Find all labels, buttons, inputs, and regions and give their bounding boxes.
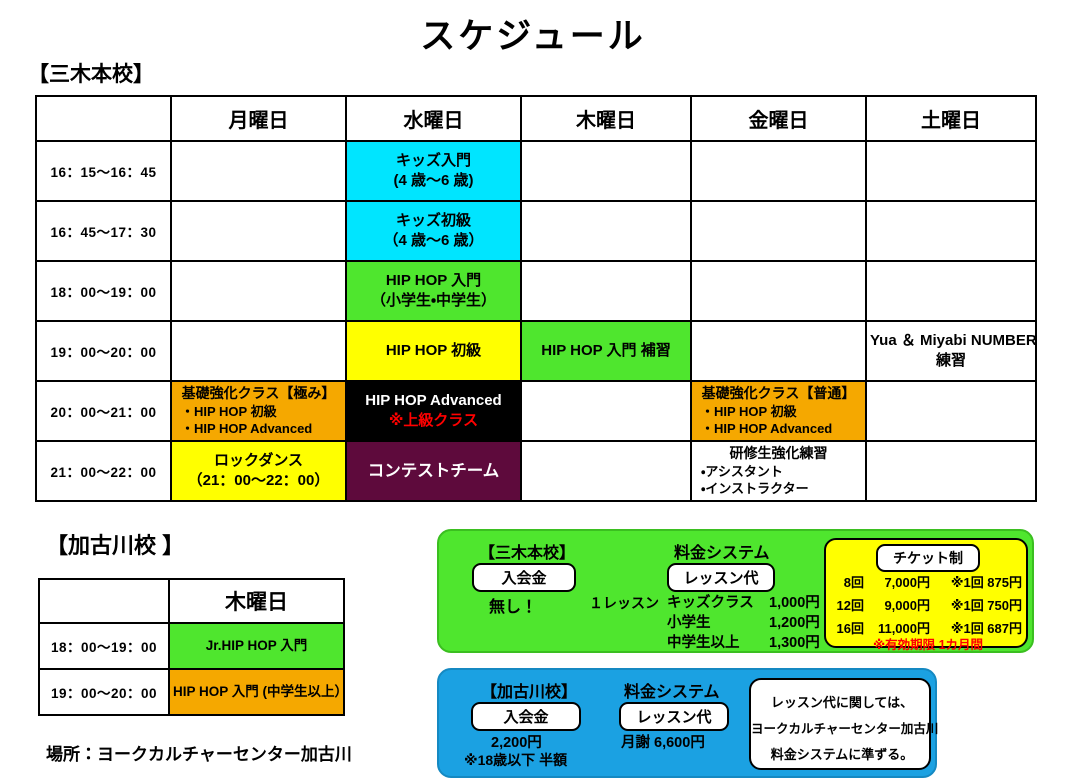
schedule-cell-sat — [866, 381, 1036, 441]
schedule-cell-wed: キッズ入門(4 歳〜6 歳) — [346, 141, 521, 201]
schedule-cell-sat — [866, 201, 1036, 261]
note-line: ヨークカルチャーセンター加古川 — [751, 718, 933, 737]
miki-fee-row-value: 1,300円 — [769, 631, 820, 652]
column-header-monday: 月曜日 — [171, 96, 346, 141]
miki-fee-system-label: 料金システム — [674, 539, 770, 563]
schedule-cell-sat: Yua ＆ Miyabi NUMBER練習 — [866, 321, 1036, 381]
schedule-cell-thu: Jr.HIP HOP 入門 — [169, 623, 344, 669]
class-label: ・HIP HOP Advanced — [695, 420, 862, 438]
schedule-cell-thu — [521, 261, 691, 321]
schedule-cell-mon: 基礎強化クラス【極み】・HIP HOP 初級・HIP HOP Advanced — [171, 381, 346, 441]
class-label: HIP HOP 入門 (中学生以上） — [173, 683, 340, 701]
ticket-per-lesson: ※1回 875円 — [934, 572, 1022, 591]
schedule-cell-thu — [521, 441, 691, 501]
class-label: ・インストラクター — [695, 480, 862, 498]
schedule-cell-mon — [171, 141, 346, 201]
class-label: (4 歳〜6 歳) — [350, 171, 517, 191]
class-label: HIP HOP 初級 — [350, 341, 517, 361]
kakogawa-lesson-fee-value: 月謝 6,600円 — [621, 731, 705, 752]
time-slot-label: 20：00〜21：00 — [36, 381, 171, 441]
time-slot-label: 16：15〜16：45 — [36, 141, 171, 201]
class-label: （4 歳〜6 歳） — [350, 231, 517, 251]
schedule-cell-wed: キッズ初級（4 歳〜6 歳） — [346, 201, 521, 261]
schedule-row: 19：00〜20：00HIP HOP 初級HIP HOP 入門 補習Yua ＆ … — [36, 321, 1036, 381]
class-label: Yua ＆ Miyabi NUMBER — [870, 331, 1032, 351]
class-label: ロックダンス — [175, 451, 342, 471]
kakogawa-fee-note-box: レッスン代に関しては、 ヨークカルチャーセンター加古川 料金システムに準ずる。 — [749, 678, 931, 770]
schedule-cell-wed: コンテストチーム — [346, 441, 521, 501]
ticket-plan-label: チケット制 — [876, 544, 980, 572]
class-label: ・アシスタント — [695, 463, 862, 481]
column-header-time — [39, 579, 169, 623]
miki-lesson-fee-label: レッスン代 — [667, 563, 775, 592]
schedule-cell-fri — [691, 261, 866, 321]
column-header-thursday: 木曜日 — [521, 96, 691, 141]
column-header-thursday: 木曜日 — [169, 579, 344, 623]
kakogawa-fee-school-label: 【加古川校】 — [481, 678, 577, 702]
time-slot-label: 19：00〜20：00 — [36, 321, 171, 381]
note-line: レッスン代に関しては、 — [751, 692, 933, 711]
schedule-cell-thu: HIP HOP 入門 (中学生以上） — [169, 669, 344, 715]
schedule-cell-fri — [691, 321, 866, 381]
class-label: 基礎強化クラス【極み】 — [175, 384, 342, 403]
kakogawa-schedule-table: 木曜日 18：00〜19：00Jr.HIP HOP 入門19：00〜20：00H… — [38, 578, 345, 716]
ticket-expiry-note: ※有効期限 1カ月間 — [826, 634, 1030, 653]
kakogawa-section-heading: 【加古川校 】 — [46, 528, 184, 560]
class-label: 研修生強化練習 — [695, 444, 862, 463]
page-title: スケジュール — [0, 8, 1066, 59]
schedule-row: 18：00〜19：00Jr.HIP HOP 入門 — [39, 623, 344, 669]
schedule-cell-mon — [171, 261, 346, 321]
schedule-cell-wed: HIP HOP Advanced※上級クラス — [346, 381, 521, 441]
miki-fee-panel: 【三木本校】 料金システム 入会金 無し！ １レッスン レッスン代 キッズクラス… — [437, 529, 1034, 653]
class-label: HIP HOP Advanced — [350, 391, 517, 411]
class-label: キッズ入門 — [350, 151, 517, 171]
schedule-cell-fri: 研修生強化練習・アシスタント・インストラクター — [691, 441, 866, 501]
class-label: キッズ初級 — [350, 211, 517, 231]
class-label: 基礎強化クラス【普通】 — [695, 384, 862, 403]
ticket-amount: 7,000円 — [868, 572, 930, 591]
time-slot-label: 18：00〜19：00 — [39, 623, 169, 669]
ticket-count: 8回 — [830, 572, 864, 591]
schedule-cell-fri — [691, 141, 866, 201]
miki-fee-row-label: 小学生 — [667, 611, 711, 632]
schedule-row: 16：15〜16：45キッズ入門(4 歳〜6 歳) — [36, 141, 1036, 201]
note-line: 料金システムに準ずる。 — [751, 744, 933, 763]
kakogawa-fee-panel: 【加古川校】 料金システム 入会金 2,200円 ※18歳以下 半額 レッスン代… — [437, 668, 937, 778]
kakogawa-lesson-fee-label: レッスン代 — [619, 702, 729, 731]
class-label: Jr.HIP HOP 入門 — [173, 637, 340, 655]
time-slot-label: 21：00〜22：00 — [36, 441, 171, 501]
schedule-cell-thu — [521, 381, 691, 441]
schedule-row: 19：00〜20：00HIP HOP 入門 (中学生以上） — [39, 669, 344, 715]
schedule-cell-thu — [521, 141, 691, 201]
ticket-amount: 9,000円 — [868, 595, 930, 614]
kakogawa-admission-note: ※18歳以下 半額 — [464, 750, 567, 770]
class-label: （小学生・中学生） — [350, 291, 517, 311]
time-slot-label: 19：00〜20：00 — [39, 669, 169, 715]
miki-one-lesson-label: １レッスン — [589, 593, 659, 613]
schedule-row: 16：45〜17：30キッズ初級（4 歳〜6 歳） — [36, 201, 1036, 261]
schedule-row: 21：00〜22：00ロックダンス（21：00〜22：00）コンテストチーム研修… — [36, 441, 1036, 501]
schedule-row: 20：00〜21：00基礎強化クラス【極み】・HIP HOP 初級・HIP HO… — [36, 381, 1036, 441]
class-label: コンテストチーム — [350, 460, 517, 482]
ticket-count: 12回 — [830, 595, 864, 614]
schedule-cell-mon: ロックダンス（21：00〜22：00） — [171, 441, 346, 501]
column-header-saturday: 土曜日 — [866, 96, 1036, 141]
class-label: ・HIP HOP Advanced — [175, 420, 342, 438]
column-header-time — [36, 96, 171, 141]
schedule-cell-wed: HIP HOP 初級 — [346, 321, 521, 381]
kakogawa-admission-label: 入会金 — [471, 702, 581, 731]
schedule-cell-sat — [866, 261, 1036, 321]
miki-fee-row-label: キッズクラス — [667, 591, 754, 612]
miki-admission-value: 無し！ — [489, 593, 537, 617]
class-label: ・HIP HOP 初級 — [175, 403, 342, 421]
column-header-wednesday: 水曜日 — [346, 96, 521, 141]
class-label: HIP HOP 入門 — [350, 271, 517, 291]
schedule-cell-mon — [171, 321, 346, 381]
kakogawa-place-note: 場所：ヨークカルチャーセンター加古川 — [46, 740, 352, 765]
kakogawa-admission-value: 2,200円 — [491, 731, 542, 752]
schedule-cell-thu: HIP HOP 入門 補習 — [521, 321, 691, 381]
schedule-cell-mon — [171, 201, 346, 261]
miki-admission-label: 入会金 — [472, 563, 576, 592]
miki-fee-row-value: 1,000円 — [769, 591, 820, 612]
class-label: ・HIP HOP 初級 — [695, 403, 862, 421]
ticket-plan-box: チケット制 8回 7,000円 ※1回 875円 12回 9,000円 ※1回 … — [824, 538, 1028, 648]
table-header-row: 月曜日 水曜日 木曜日 金曜日 土曜日 — [36, 96, 1036, 141]
column-header-friday: 金曜日 — [691, 96, 866, 141]
kakogawa-fee-system-label: 料金システム — [624, 678, 720, 702]
time-slot-label: 18：00〜19：00 — [36, 261, 171, 321]
class-label: HIP HOP 入門 補習 — [525, 341, 687, 361]
schedule-cell-thu — [521, 201, 691, 261]
miki-schedule-table: 月曜日 水曜日 木曜日 金曜日 土曜日 16：15〜16：45キッズ入門(4 歳… — [35, 95, 1037, 502]
schedule-row: 18：00〜19：00HIP HOP 入門（小学生・中学生） — [36, 261, 1036, 321]
schedule-cell-sat — [866, 141, 1036, 201]
ticket-per-lesson: ※1回 750円 — [934, 595, 1022, 614]
miki-fee-school-label: 【三木本校】 — [479, 539, 575, 563]
schedule-cell-wed: HIP HOP 入門（小学生・中学生） — [346, 261, 521, 321]
miki-section-heading: 【三木本校】 — [28, 58, 154, 88]
class-label: （21：00〜22：00） — [175, 471, 342, 491]
miki-fee-row-label: 中学生以上 — [667, 631, 740, 652]
schedule-page: スケジュール 【三木本校】 月曜日 水曜日 木曜日 金曜日 土曜日 16：15〜… — [0, 0, 1066, 781]
miki-fee-row-value: 1,200円 — [769, 611, 820, 632]
schedule-cell-fri — [691, 201, 866, 261]
time-slot-label: 16：45〜17：30 — [36, 201, 171, 261]
class-label: ※上級クラス — [350, 411, 517, 431]
table-header-row: 木曜日 — [39, 579, 344, 623]
schedule-cell-sat — [866, 441, 1036, 501]
class-label: 練習 — [870, 351, 1032, 371]
schedule-cell-fri: 基礎強化クラス【普通】・HIP HOP 初級・HIP HOP Advanced — [691, 381, 866, 441]
